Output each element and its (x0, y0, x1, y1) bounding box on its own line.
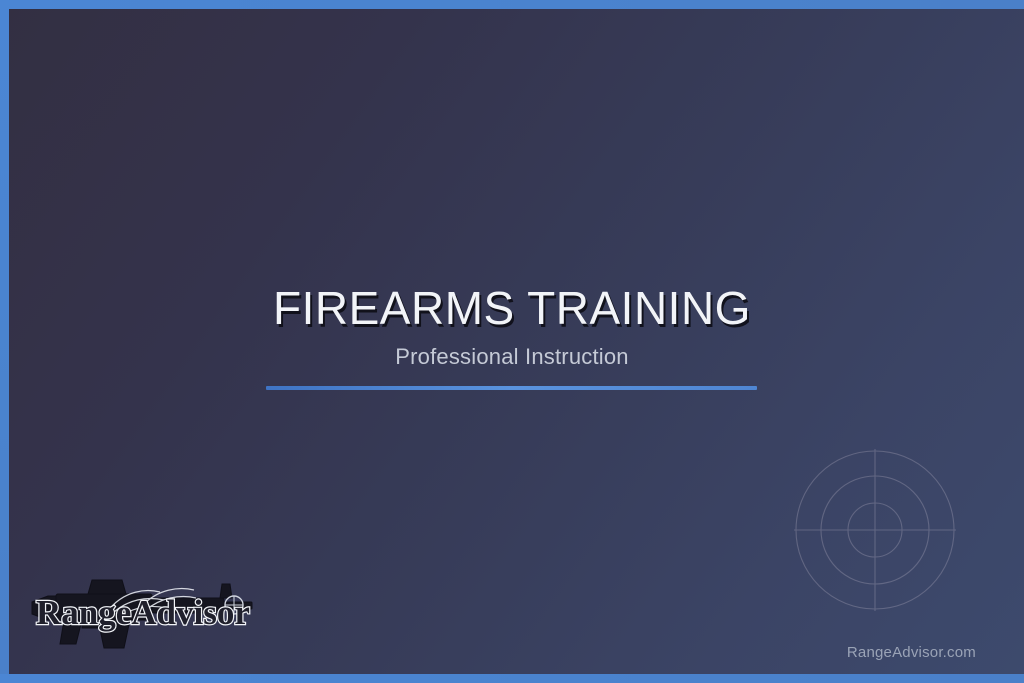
page-title: FIREARMS TRAINING (0, 284, 1024, 334)
page-subtitle: Professional Instruction (0, 344, 1024, 370)
title-slide: FIREARMS TRAINING Professional Instructi… (0, 0, 1024, 683)
crosshair-target-icon (790, 445, 960, 615)
slide-frame-bottom (0, 674, 1024, 683)
slide-frame-top (0, 0, 1024, 9)
title-block: FIREARMS TRAINING Professional Instructi… (0, 284, 1024, 370)
rangeadvisor-logo: RangeAdvisor (26, 558, 258, 650)
footer-website-url: RangeAdvisor.com (847, 644, 976, 661)
title-accent-rule (266, 386, 757, 390)
logo-wordmark: RangeAdvisor (36, 593, 250, 632)
